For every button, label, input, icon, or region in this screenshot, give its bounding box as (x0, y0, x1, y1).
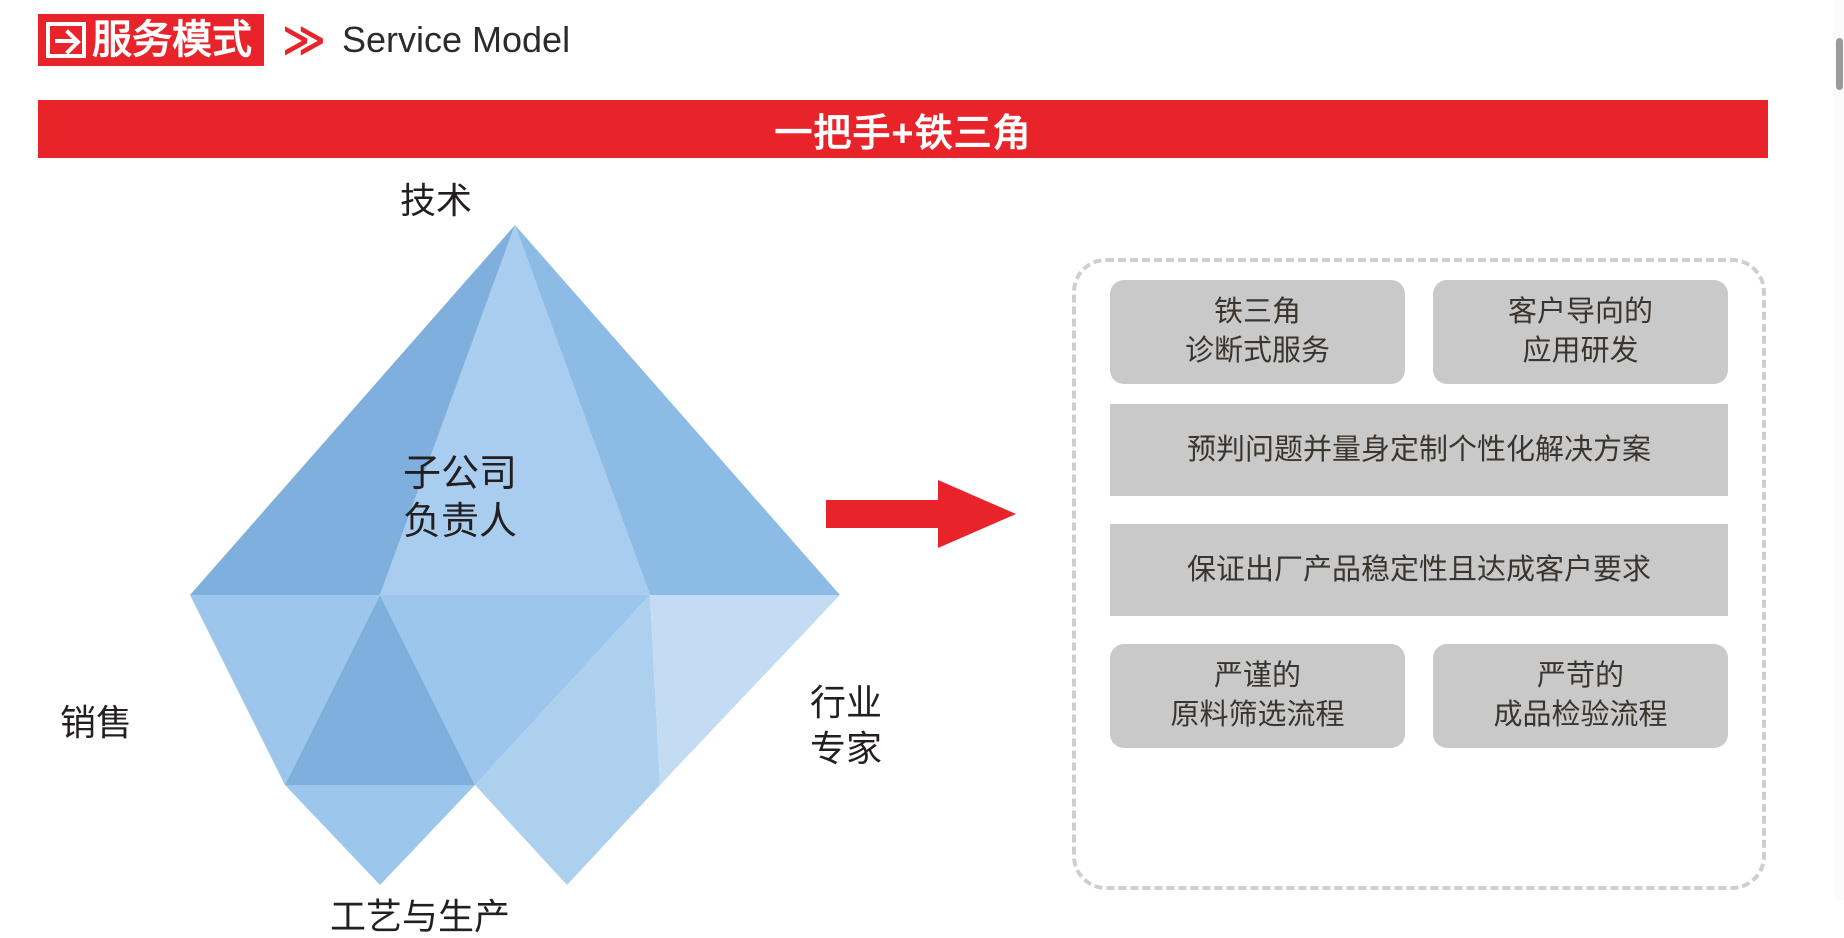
facet-lower-7 (475, 785, 660, 885)
facet-lower-6 (285, 785, 475, 885)
pill-line1: 客户导向的 (1508, 293, 1653, 332)
pill-line1: 保证出厂产品稳定性且达成客户要求 (1187, 551, 1651, 590)
outcomes-row-1: 铁三角 诊断式服务 客户导向的 应用研发 (1110, 280, 1728, 384)
pyramid-vertex-right: 行业 专家 (810, 680, 882, 772)
pill-line2: 原料筛选流程 (1170, 696, 1344, 735)
outcome-pill[interactable]: 铁三角 诊断式服务 (1110, 280, 1405, 384)
section-banner: 一把手+铁三角 (38, 100, 1768, 158)
arrow-in-box-icon (46, 22, 86, 58)
chevron-double-right-icon: ≫ (282, 19, 320, 61)
header-subtitle: Service Model (342, 20, 570, 60)
pyramid-center-line2: 负责人 (350, 498, 570, 546)
service-model-badge: 服务模式 (38, 14, 264, 66)
pyramid-vertex-left: 销售 (60, 702, 132, 744)
banner-title: 一把手+铁三角 (774, 102, 1031, 157)
outcomes-row-2: 预判问题并量身定制个性化解决方案 (1110, 404, 1728, 496)
pyramid-diagram: 技术 销售 行业 专家 工艺与生产 子公司 负责人 (40, 180, 940, 880)
pyramid-vertex-bottom: 工艺与生产 (330, 896, 510, 938)
pill-line1: 预判问题并量身定制个性化解决方案 (1187, 431, 1651, 470)
pyramid-vertex-right-line1: 行业 (810, 680, 882, 726)
right-arrow-icon (826, 478, 1016, 550)
pill-line1: 严苛的 (1493, 657, 1667, 696)
pill-line2: 成品检验流程 (1493, 696, 1667, 735)
outcome-pill[interactable]: 严谨的 原料筛选流程 (1110, 644, 1405, 748)
pill-line1: 严谨的 (1170, 657, 1344, 696)
pyramid-center-line1: 子公司 (350, 450, 570, 498)
pill-line2: 应用研发 (1508, 332, 1653, 371)
pyramid-vertex-top: 技术 (400, 180, 472, 222)
pill-line2: 诊断式服务 (1185, 332, 1330, 371)
pyramid-vertex-right-line2: 专家 (810, 726, 882, 772)
outcome-pill[interactable]: 客户导向的 应用研发 (1433, 280, 1728, 384)
badge-label: 服务模式 (92, 18, 252, 62)
outcomes-row-4: 严谨的 原料筛选流程 严苛的 成品检验流程 (1110, 644, 1728, 748)
outcomes-panel: 铁三角 诊断式服务 客户导向的 应用研发 预判问题并量身定制个性化解决方案 保证… (1072, 258, 1766, 890)
pyramid-shape (190, 225, 840, 885)
vertical-scrollbar[interactable] (1834, 0, 1844, 900)
page-header: 服务模式 ≫ Service Model (38, 8, 570, 72)
outcome-pill[interactable]: 预判问题并量身定制个性化解决方案 (1110, 404, 1728, 496)
pill-line1: 铁三角 (1185, 293, 1330, 332)
pyramid-center-label: 子公司 负责人 (350, 450, 570, 546)
outcome-pill[interactable]: 严苛的 成品检验流程 (1433, 644, 1728, 748)
outcomes-row-3: 保证出厂产品稳定性且达成客户要求 (1110, 524, 1728, 616)
scrollbar-thumb[interactable] (1836, 38, 1843, 90)
outcome-pill[interactable]: 保证出厂产品稳定性且达成客户要求 (1110, 524, 1728, 616)
